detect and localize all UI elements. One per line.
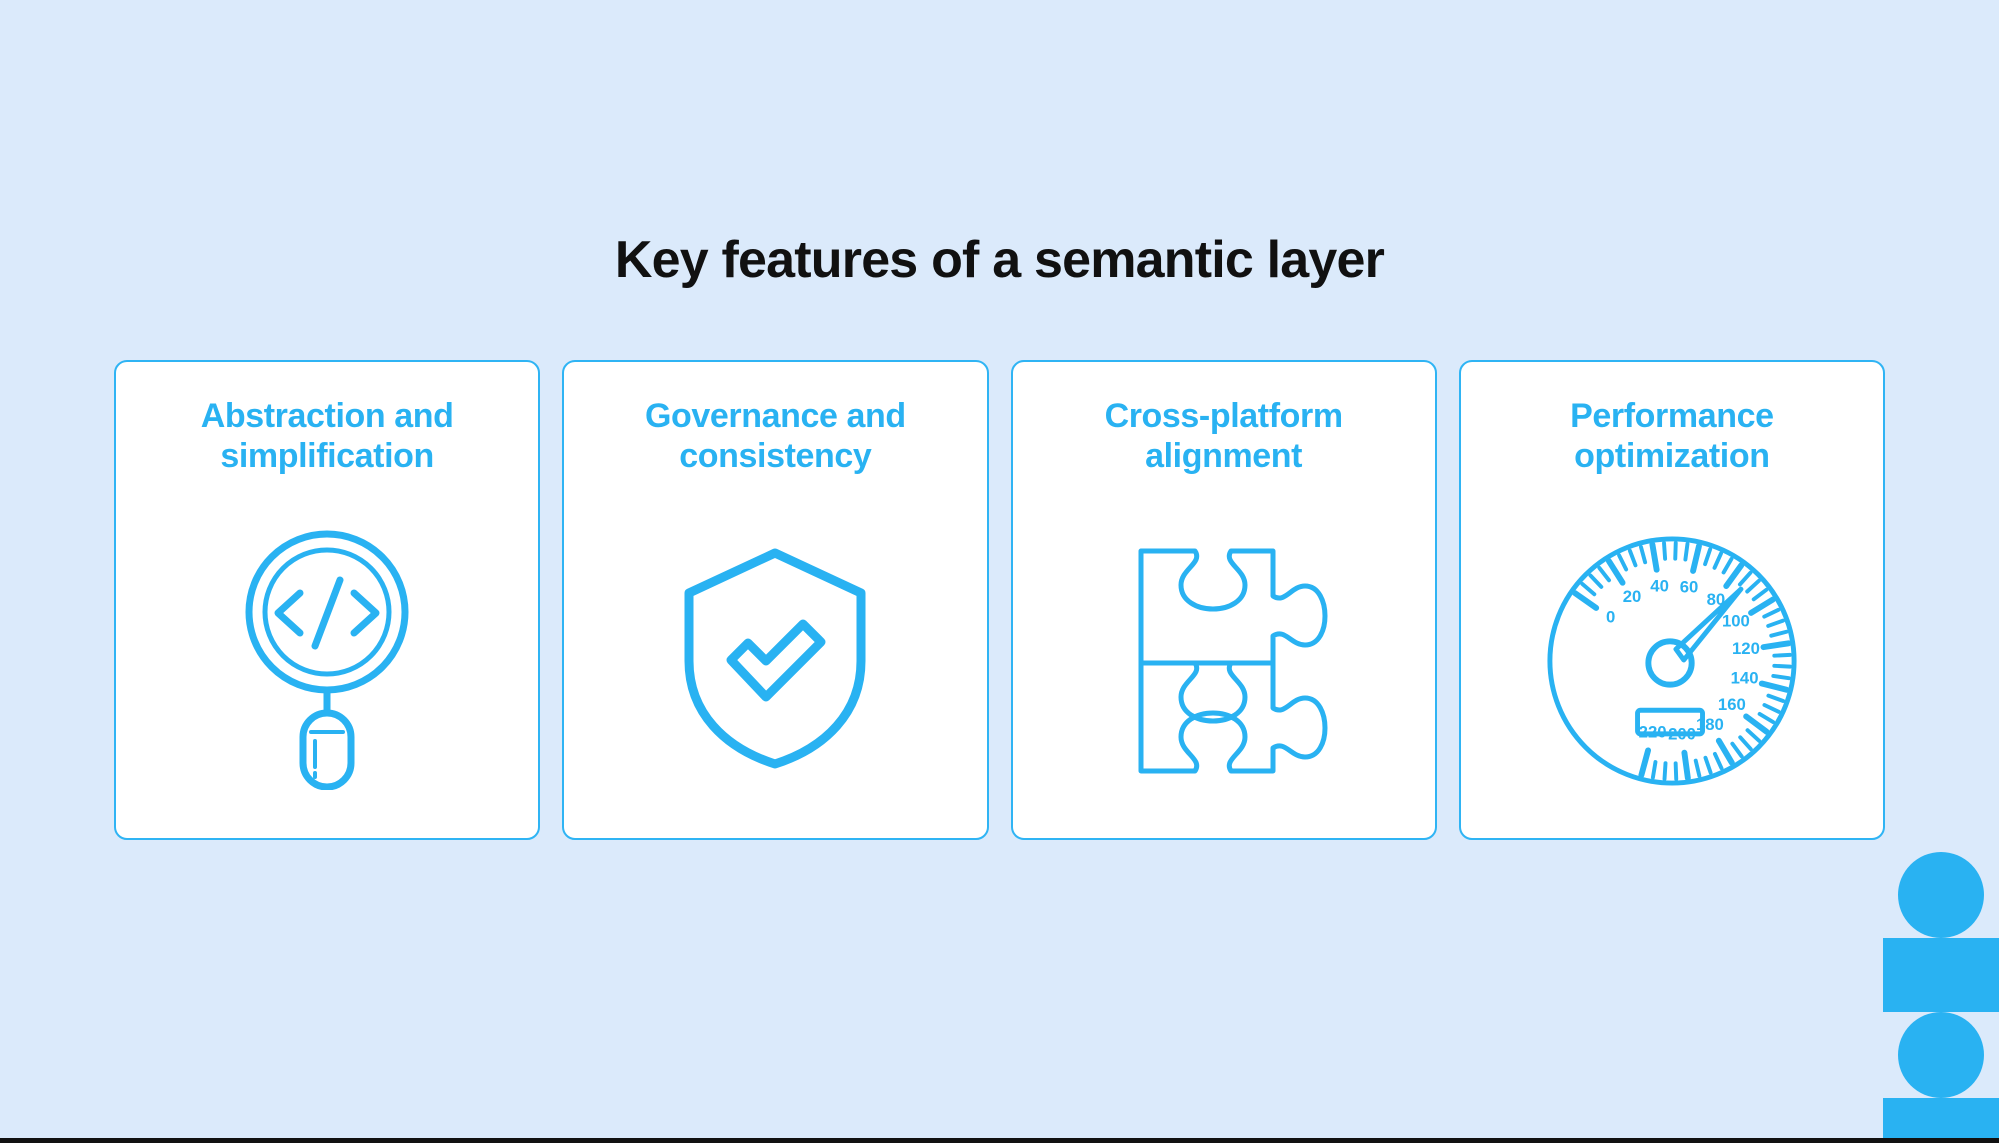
magnifier-code-icon [116, 472, 538, 838]
page-title: Key features of a semantic layer [0, 232, 1999, 289]
gauge-tick-label: 80 [1706, 590, 1725, 609]
decorative-shape-stack [1883, 852, 1999, 1143]
gauge-tick-label: 200 [1668, 725, 1696, 744]
gauge-major-tick [1763, 643, 1788, 647]
gauge-major-tick [1641, 751, 1648, 776]
gauge-minor-tick [1590, 576, 1601, 587]
gauge-minor-tick [1685, 544, 1687, 560]
gauge-minor-tick [1705, 549, 1710, 564]
gauge-minor-tick [1619, 555, 1626, 569]
decorative-square [1883, 938, 1999, 1012]
feature-card-title: Governance and consistency [605, 396, 945, 476]
gauge-minor-tick [1715, 754, 1722, 768]
gauge-major-tick [1684, 753, 1687, 778]
gauge-minor-tick [1764, 705, 1778, 712]
gauge-tick-label: 20 [1623, 587, 1642, 606]
gauge-minor-tick [1740, 573, 1751, 585]
puzzle-pieces-icon [1013, 480, 1435, 838]
gauge-minor-tick [1630, 551, 1636, 566]
gauge-minor-tick [1771, 632, 1786, 636]
gauge-minor-tick [1732, 744, 1741, 757]
feature-card-cross-platform[interactable]: Cross-platform alignment [1011, 360, 1437, 840]
gauge-minor-tick [1714, 554, 1720, 568]
feature-card-performance[interactable]: Performance optimization [1459, 360, 1885, 840]
gauge-minor-tick [1696, 761, 1700, 776]
gauge-minor-tick [1740, 737, 1751, 749]
gauge-major-tick [1751, 600, 1773, 613]
gauge-tick-label: 100 [1722, 612, 1750, 631]
speedometer-gauge-icon: 020406080100120140160180200220 [1461, 484, 1883, 838]
gauge-minor-tick [1723, 559, 1731, 573]
feature-card-abstraction[interactable]: Abstraction and simplification [114, 360, 540, 840]
gauge-minor-tick [1664, 763, 1665, 779]
gauge-tick-label: 60 [1680, 578, 1699, 597]
gauge-minor-tick [1768, 696, 1783, 701]
decorative-circle [1898, 1012, 1984, 1098]
decorative-circle [1898, 852, 1984, 938]
shield-check-icon [564, 478, 986, 838]
gauge-minor-tick [1747, 581, 1759, 592]
gauge-tick-label: 160 [1718, 695, 1746, 714]
gauge-tick-label: 40 [1650, 577, 1669, 596]
gauge-major-tick [1693, 546, 1699, 571]
gauge-minor-tick [1676, 763, 1677, 779]
decorative-square [1883, 1098, 1999, 1143]
gauge-minor-tick [1768, 621, 1783, 626]
gauge-minor-tick [1705, 758, 1710, 773]
feature-card-title: Performance optimization [1502, 396, 1842, 476]
gauge-minor-tick [1641, 547, 1645, 562]
bottom-rule [0, 1138, 1999, 1143]
gauge-minor-tick [1774, 666, 1790, 667]
gauge-major-tick [1609, 561, 1623, 583]
feature-card-governance[interactable]: Governance and consistency [562, 360, 988, 840]
gauge-major-tick [1719, 741, 1732, 763]
gauge-minor-tick [1582, 584, 1594, 594]
gauge-major-tick [1652, 545, 1656, 570]
gauge-minor-tick [1774, 655, 1790, 656]
feature-cards-row: Abstraction and simplification [114, 360, 1885, 840]
gauge-tick-label: 220 [1639, 723, 1667, 742]
gauge-minor-tick [1773, 676, 1789, 678]
gauge-minor-tick [1653, 762, 1656, 778]
gauge-minor-tick [1747, 730, 1759, 741]
slide-canvas: Key features of a semantic layer Abstrac… [0, 0, 1999, 1143]
gauge-minor-tick [1754, 590, 1767, 599]
gauge-minor-tick [1760, 714, 1773, 722]
gauge-major-tick [1762, 684, 1787, 690]
gauge-tick-label: 140 [1730, 669, 1758, 688]
feature-card-title: Abstraction and simplification [157, 396, 497, 476]
gauge-tick-label: 120 [1732, 639, 1760, 658]
gauge-minor-tick [1599, 568, 1609, 580]
feature-card-title: Cross-platform alignment [1054, 396, 1394, 476]
gauge-minor-tick [1664, 543, 1665, 559]
gauge-minor-tick [1764, 610, 1778, 617]
gauge-tick-label: 0 [1606, 608, 1615, 627]
gauge-tick-label: 180 [1696, 715, 1724, 734]
